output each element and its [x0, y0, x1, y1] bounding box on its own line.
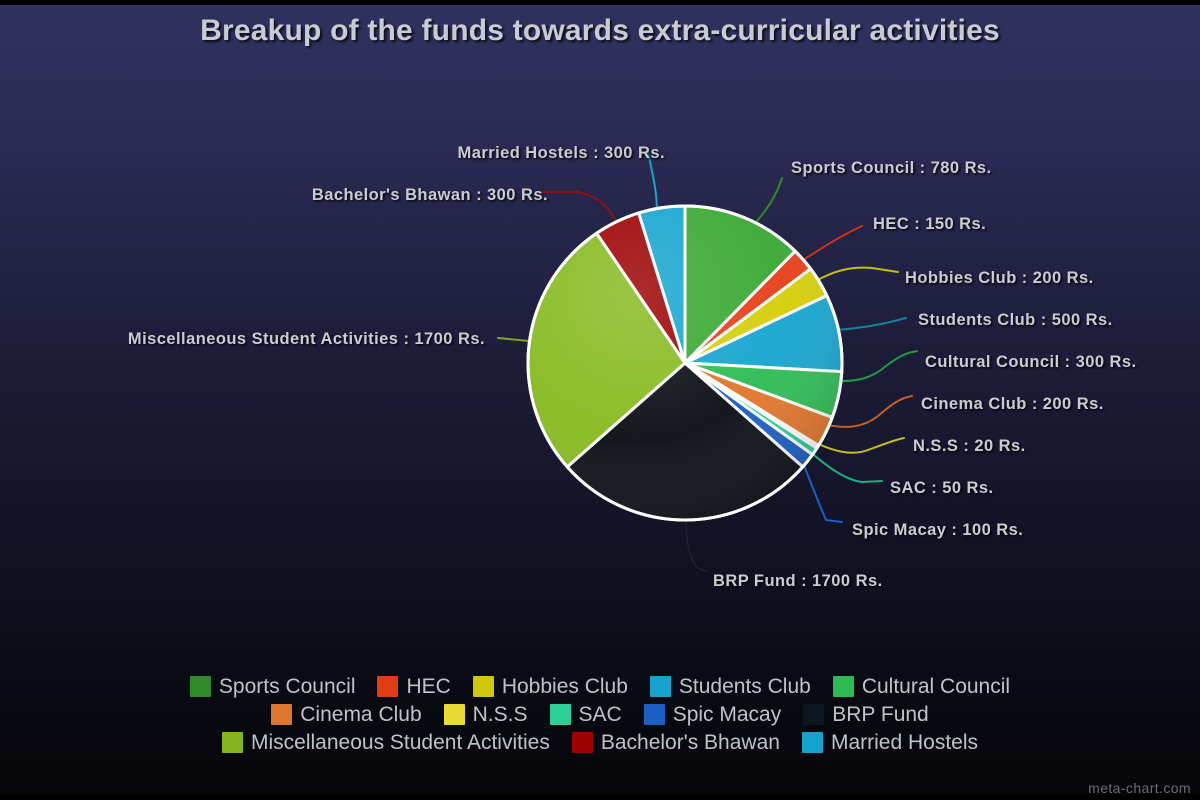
slice-label-sports_council: Sports Council : 780 Rs.	[791, 159, 992, 178]
leader-line-bachelors_bhawan	[540, 192, 615, 220]
legend-swatch-icon	[650, 676, 671, 697]
slice-label-sac: SAC : 50 Rs.	[890, 479, 994, 498]
legend-label: Sports Council	[219, 676, 356, 697]
legend-item-cinema-club[interactable]: Cinema Club	[271, 704, 421, 725]
legend-item-n-s-s[interactable]: N.S.S	[444, 704, 528, 725]
legend-label: Hobbies Club	[502, 676, 628, 697]
pie-slices-group	[528, 206, 842, 520]
slice-label-hobbies_club: Hobbies Club : 200 Rs.	[905, 269, 1094, 288]
legend-row: Miscellaneous Student ActivitiesBachelor…	[0, 728, 1200, 756]
legend-swatch-icon	[377, 676, 398, 697]
legend-item-sac[interactable]: SAC	[550, 704, 622, 725]
legend-label: Married Hostels	[831, 732, 978, 753]
legend-item-spic-macay[interactable]: Spic Macay	[644, 704, 782, 725]
legend-swatch-icon	[550, 704, 571, 725]
legend-swatch-icon	[803, 704, 824, 725]
legend-label: Spic Macay	[673, 704, 782, 725]
leader-line-nss	[810, 438, 904, 453]
legend-label: N.S.S	[473, 704, 528, 725]
legend-swatch-icon	[572, 732, 593, 753]
slice-label-spic_macay: Spic Macay : 100 Rs.	[852, 521, 1023, 540]
slice-label-cinema_club: Cinema Club : 200 Rs.	[921, 395, 1104, 414]
leader-line-students_club	[836, 318, 906, 330]
legend-item-cultural-council[interactable]: Cultural Council	[833, 676, 1010, 697]
leader-line-sac	[806, 448, 882, 482]
leader-line-cinema_club	[828, 396, 912, 427]
legend-swatch-icon	[802, 732, 823, 753]
slice-label-married_hostels: Married Hostels : 300 Rs.	[458, 144, 666, 163]
legend-label: HEC	[406, 676, 450, 697]
legend-swatch-icon	[444, 704, 465, 725]
leader-line-brp_fund	[686, 520, 708, 572]
legend-item-sports-council[interactable]: Sports Council	[190, 676, 356, 697]
legend-label: Students Club	[679, 676, 811, 697]
slice-label-brp_fund: BRP Fund : 1700 Rs.	[713, 572, 883, 591]
watermark: meta-chart.com	[1088, 780, 1191, 796]
leader-line-sports_council	[757, 178, 782, 221]
legend-label: Cultural Council	[862, 676, 1010, 697]
slice-label-cultural_council: Cultural Council : 300 Rs.	[925, 353, 1137, 372]
legend-item-brp-fund[interactable]: BRP Fund	[803, 704, 929, 725]
legend-label: SAC	[579, 704, 622, 725]
legend-label: Cinema Club	[300, 704, 421, 725]
slice-label-bachelors_bhawan: Bachelor's Bhawan : 300 Rs.	[312, 186, 548, 205]
legend-row: Cinema ClubN.S.SSACSpic MacayBRP Fund	[0, 700, 1200, 728]
legend-item-married-hostels[interactable]: Married Hostels	[802, 732, 978, 753]
legend-swatch-icon	[271, 704, 292, 725]
legend-swatch-icon	[473, 676, 494, 697]
legend-swatch-icon	[222, 732, 243, 753]
legend-item-students-club[interactable]: Students Club	[650, 676, 811, 697]
leader-line-hec	[800, 226, 862, 262]
legend-item-hec[interactable]: HEC	[377, 676, 450, 697]
pie-chart-figure: Breakup of the funds towards extra-curri…	[0, 0, 1200, 800]
slice-label-students_club: Students Club : 500 Rs.	[918, 311, 1113, 330]
legend-swatch-icon	[644, 704, 665, 725]
leader-line-spic_macay	[800, 455, 842, 522]
legend-item-miscellaneous-student-activities[interactable]: Miscellaneous Student Activities	[222, 732, 550, 753]
legend-label: Bachelor's Bhawan	[601, 732, 780, 753]
slice-label-nss: N.S.S : 20 Rs.	[913, 437, 1026, 456]
legend-item-bachelor-s-bhawan[interactable]: Bachelor's Bhawan	[572, 732, 780, 753]
slice-label-miscellaneous: Miscellaneous Student Activities : 1700 …	[128, 330, 485, 349]
legend-swatch-icon	[190, 676, 211, 697]
legend-row: Sports CouncilHECHobbies ClubStudents Cl…	[0, 672, 1200, 700]
slice-label-hec: HEC : 150 Rs.	[873, 215, 986, 234]
leader-line-cultural_council	[833, 351, 917, 381]
leader-line-hobbies_club	[812, 268, 898, 283]
legend-item-hobbies-club[interactable]: Hobbies Club	[473, 676, 628, 697]
legend: Sports CouncilHECHobbies ClubStudents Cl…	[0, 672, 1200, 756]
legend-label: BRP Fund	[832, 704, 929, 725]
legend-swatch-icon	[833, 676, 854, 697]
legend-label: Miscellaneous Student Activities	[251, 732, 550, 753]
